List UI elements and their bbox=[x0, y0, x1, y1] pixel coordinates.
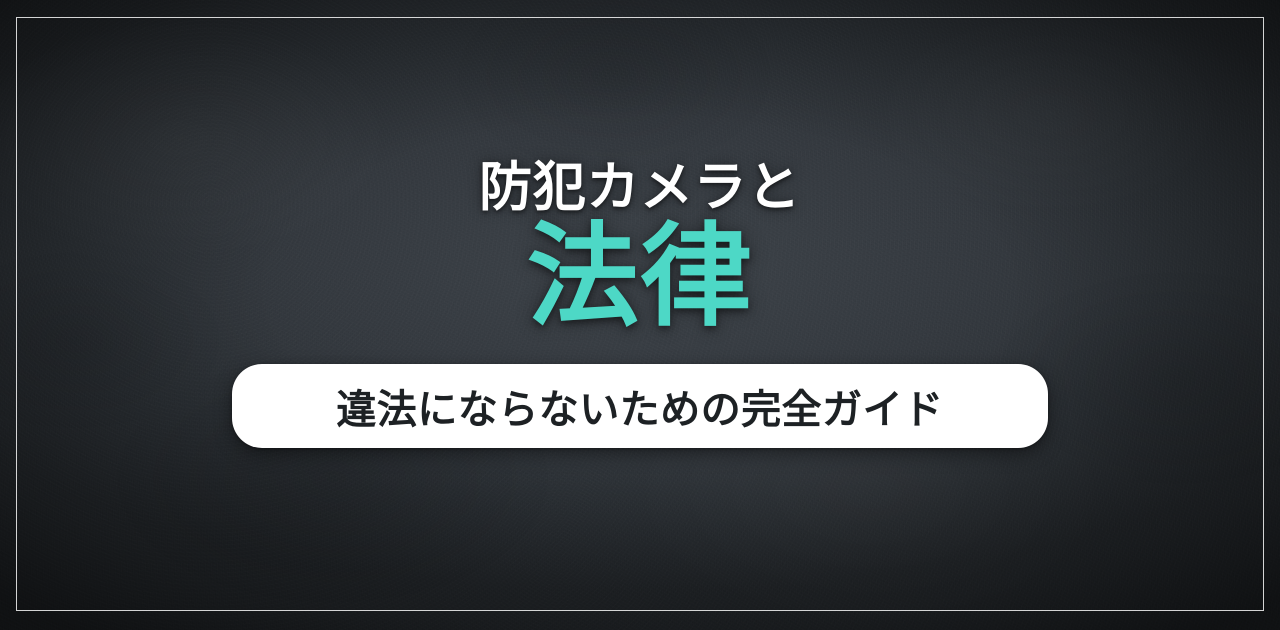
headline-block: 防犯カメラと 法律 bbox=[479, 160, 801, 333]
thumbnail-canvas: 防犯カメラと 法律 違法にならないための完全ガイド bbox=[0, 0, 1280, 630]
headline-line-1: 防犯カメラと bbox=[479, 160, 801, 215]
subtitle-pill-label: 違法にならないための完全ガイド bbox=[336, 377, 943, 435]
subtitle-pill: 違法にならないための完全ガイド bbox=[232, 364, 1048, 448]
headline-line-2-emphasis: 法律 bbox=[527, 221, 753, 333]
content-area: 防犯カメラと 法律 違法にならないための完全ガイド bbox=[0, 0, 1280, 630]
